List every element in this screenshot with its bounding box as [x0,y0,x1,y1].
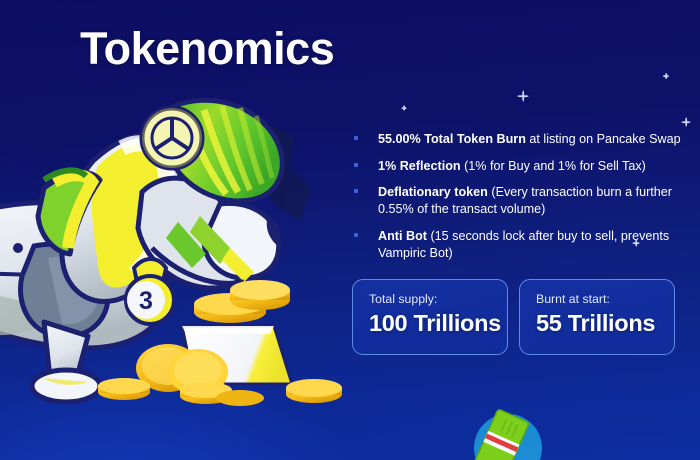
bullet-highlight-text: 55.00% Total Token Burn [378,132,526,146]
bullet-item: Deflationary token (Every transaction bu… [352,184,692,217]
bullet-body-text: (1% for Buy and 1% for Sell Tax) [461,159,646,173]
stat-card: Total supply:100 Trillions [352,279,508,355]
sparkle-star-5-icon [402,106,407,111]
sparkle-star-1-icon [518,91,529,102]
stat-card: Burnt at start:55 Trillions [519,279,675,355]
stat-card-label: Total supply: [369,292,507,306]
mascot-medal-badge: 3 [126,259,174,324]
stat-cards-group: Total supply:100 TrillionsBurnt at start… [352,279,675,355]
square-bullet-icon [354,136,358,140]
page-title: Tokenomics [80,24,334,74]
square-bullet-icon [354,163,358,167]
square-bullet-icon [354,233,358,237]
bullet-body-text: at listing on Pancake Swap [526,132,681,146]
bullet-item: 55.00% Total Token Burn at listing on Pa… [352,131,692,148]
robot-horse-mascot-illustration: 3 [0,96,342,426]
medal-number-text: 3 [139,287,153,315]
stat-card-value: 100 Trillions [369,310,507,337]
cash-bundle-illustration [452,400,562,460]
square-bullet-icon [354,189,358,193]
sparkle-star-2-icon [682,118,691,127]
bullet-highlight-text: Anti Bot [378,229,427,243]
bullet-item: Anti Bot (15 seconds lock after buy to s… [352,228,692,261]
bullet-highlight-text: Deflationary token [378,185,488,199]
stat-card-value: 55 Trillions [536,310,674,337]
sparkle-star-3-icon [663,73,669,79]
tokenomics-bullet-list: 55.00% Total Token Burn at listing on Pa… [352,131,692,271]
mascot-eye-emblem [142,108,202,168]
bullet-highlight-text: 1% Reflection [378,159,461,173]
stat-card-label: Burnt at start: [536,292,674,306]
tokenomics-slide: 3 [0,0,700,460]
bullet-item: 1% Reflection (1% for Buy and 1% for Sel… [352,158,692,175]
